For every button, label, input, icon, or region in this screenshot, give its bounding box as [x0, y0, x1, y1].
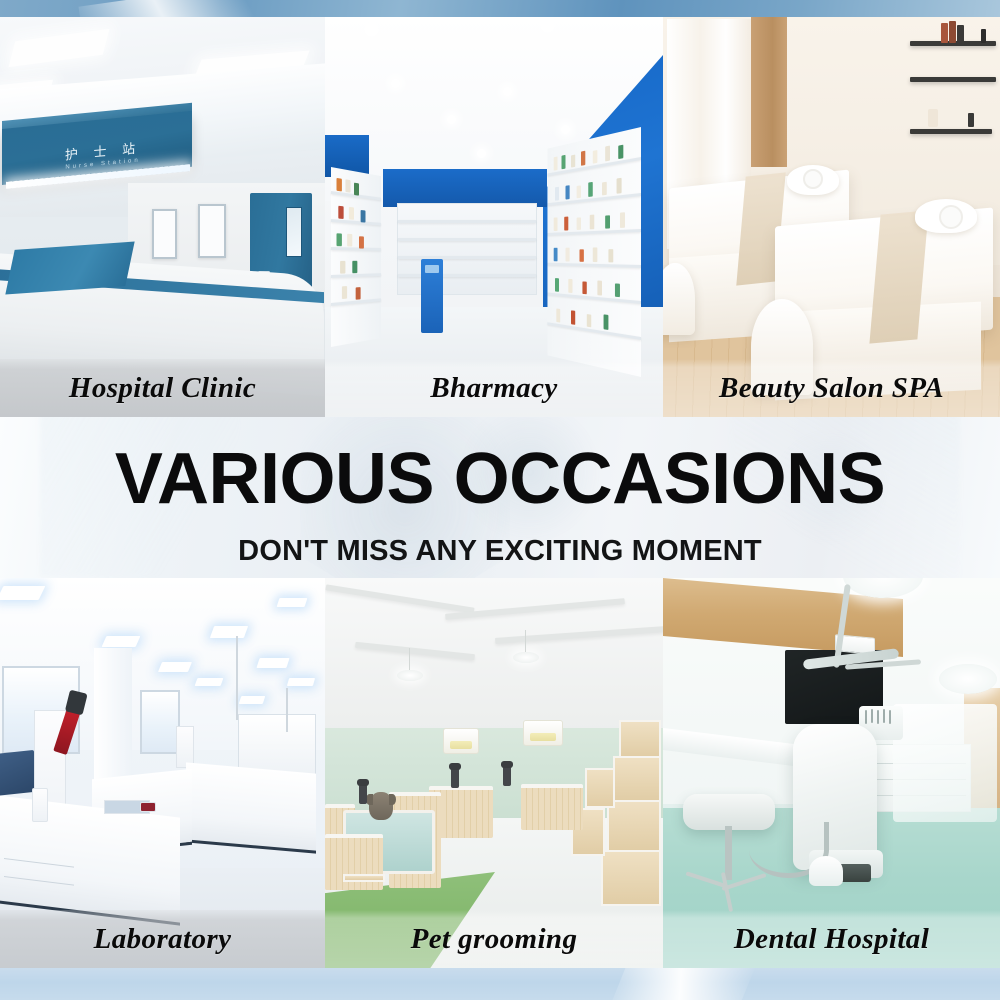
caption-band-dental-hospital: Dental Hospital	[663, 910, 1000, 968]
caption-beauty-salon-spa: Beauty Salon SPA	[719, 372, 944, 405]
dog	[369, 792, 393, 820]
bottom-image-row: Laboratory	[0, 578, 1000, 968]
dentist-stool	[683, 794, 775, 830]
tile-pharmacy[interactable]: Bharmacy	[325, 17, 663, 417]
caption-dental-hospital: Dental Hospital	[734, 923, 929, 956]
pharmacy-photo	[325, 17, 663, 417]
hospital-clinic-photo: 护 士 站 Nurse Station	[0, 17, 325, 417]
tile-dental-hospital[interactable]: Dental Hospital	[663, 578, 1000, 968]
lab-bench-3	[186, 762, 316, 853]
back-shelving	[397, 203, 537, 295]
caption-band-pharmacy: Bharmacy	[325, 359, 663, 417]
top-crop-strip	[0, 0, 1000, 17]
banner-title: VARIOUS OCCASIONS	[0, 443, 1000, 515]
wall-notice-2	[198, 204, 226, 258]
wall-notice-1	[152, 209, 177, 259]
caption-band-hospital-clinic: Hospital Clinic	[0, 359, 325, 417]
tile-pet-grooming[interactable]: Pet grooming	[325, 578, 663, 968]
suction-unit	[809, 856, 843, 886]
bottom-crop-strip	[0, 968, 1000, 1000]
caption-laboratory: Laboratory	[94, 923, 232, 956]
banner-subtitle: DON'T MISS ANY EXCITING MOMENT	[0, 535, 1000, 568]
lab-window-2	[140, 690, 180, 754]
left-shelving	[331, 167, 381, 347]
top-image-row: 护 士 站 Nurse Station Hospital Clinic	[0, 17, 1000, 417]
banner: VARIOUS OCCASIONS DON'T MISS ANY EXCITIN…	[0, 417, 1000, 578]
tile-beauty-salon-spa[interactable]: Beauty Salon SPA	[663, 17, 1000, 417]
caption-pharmacy: Bharmacy	[430, 372, 557, 405]
caption-band-beauty-salon-spa: Beauty Salon SPA	[663, 359, 1000, 417]
caption-hospital-clinic: Hospital Clinic	[69, 372, 256, 405]
caption-band-laboratory: Laboratory	[0, 910, 325, 968]
pharmacy-kiosk	[421, 259, 443, 333]
fume-hood	[238, 714, 316, 776]
tile-hospital-clinic[interactable]: 护 士 站 Nurse Station Hospital Clinic	[0, 17, 325, 417]
reception-counter	[5, 241, 134, 294]
tile-laboratory[interactable]: Laboratory	[0, 578, 325, 968]
right-shelving	[547, 127, 641, 377]
lab-monitor	[0, 750, 34, 796]
beauty-salon-spa-photo	[663, 17, 1000, 417]
caption-pet-grooming: Pet grooming	[411, 923, 578, 956]
caption-band-pet-grooming: Pet grooming	[325, 910, 663, 968]
lab-bench-1	[0, 794, 180, 925]
promo-collage: 护 士 站 Nurse Station Hospital Clinic	[0, 0, 1000, 1000]
